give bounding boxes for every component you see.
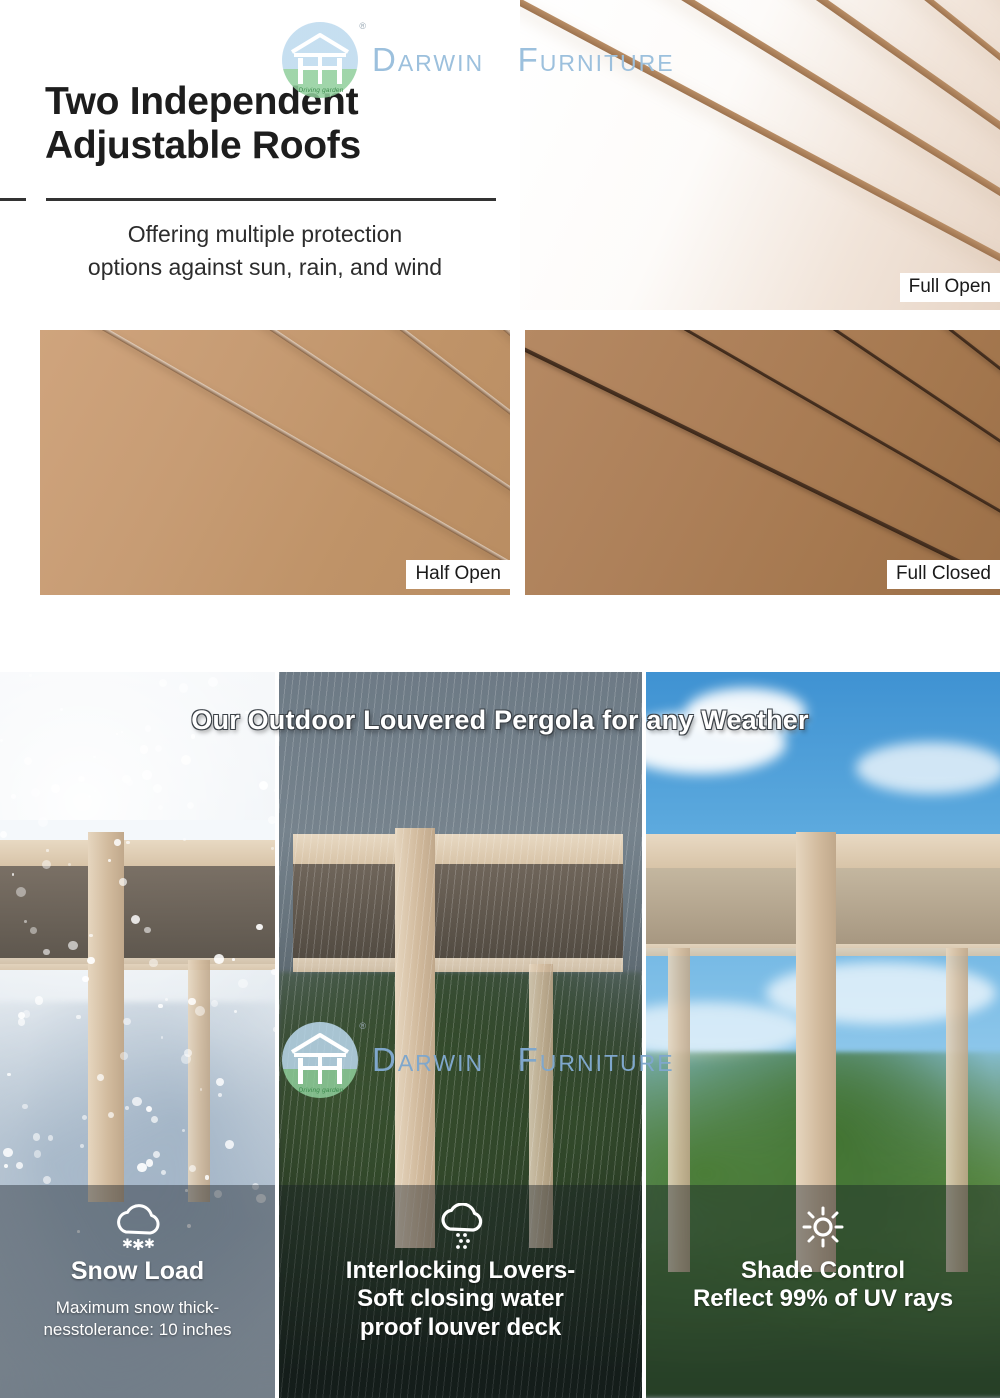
louver-slats-open	[520, 0, 1000, 310]
snowflake	[29, 674, 32, 677]
snowflake	[151, 1116, 158, 1123]
weather-panel-sun: Shade Control Reflect 99% of UV rays	[646, 672, 1000, 1398]
subheadline: Offering multiple protection options aga…	[20, 218, 510, 285]
photo-full-open: Full Open	[520, 0, 1000, 310]
sun-title-line-2: Reflect 99% of UV rays	[646, 1285, 1000, 1313]
headline-line-2: Adjustable Roofs	[45, 124, 505, 168]
snowflake	[126, 779, 133, 786]
rain-cloud-icon	[279, 1203, 642, 1251]
weather-section: ✱ ✱ ✱ Snow Load Maximum snow thick- ness…	[0, 672, 1000, 1398]
snowflake	[137, 1163, 146, 1172]
snowflake	[43, 949, 49, 955]
sun-title-line-1: Shade Control	[646, 1257, 1000, 1285]
snowflake	[30, 927, 37, 934]
sun-icon	[646, 1203, 1000, 1251]
snowflake	[181, 755, 191, 765]
snowflake	[12, 873, 14, 875]
snowflake	[88, 795, 91, 798]
snowflake	[76, 1015, 81, 1020]
snowflake	[34, 1150, 41, 1157]
photo-label-half-open: Half Open	[406, 560, 510, 589]
photo-full-closed: Full Closed	[525, 330, 1000, 595]
snowflake	[46, 849, 48, 851]
sun-title: Shade Control Reflect 99% of UV rays	[646, 1257, 1000, 1314]
snowflake	[0, 831, 7, 838]
panel-separator-2	[642, 672, 646, 1398]
svg-text:✱: ✱	[132, 1236, 145, 1250]
snowflake	[146, 1159, 153, 1166]
subheadline-line-1: Offering multiple protection	[20, 218, 510, 251]
snowflake	[259, 781, 268, 790]
louver-slat	[40, 330, 510, 595]
divider-line	[46, 198, 496, 201]
weather-panel-snow: ✱ ✱ ✱ Snow Load Maximum snow thick- ness…	[0, 672, 275, 1398]
snowflake	[161, 1170, 166, 1175]
snowflake	[18, 1012, 25, 1019]
snowflake	[149, 959, 158, 968]
snowflake	[165, 998, 168, 1001]
rain-title-line-2: Soft closing water	[279, 1285, 642, 1313]
snowflake	[120, 1052, 128, 1060]
registered-mark: ®	[359, 21, 366, 31]
snowflake	[256, 924, 262, 930]
louver-slat	[40, 330, 510, 469]
snowflake	[268, 816, 275, 824]
snowflake	[216, 1078, 224, 1086]
snowflake	[97, 1074, 104, 1081]
snowflake	[119, 878, 127, 886]
rain-title-line-1: Interlocking Lovers-	[279, 1257, 642, 1285]
photo-half-open: Half Open	[40, 330, 510, 595]
snowflake	[146, 1106, 152, 1112]
headline-line-1: Two Independent	[45, 80, 505, 124]
louver-slats-half	[40, 330, 510, 595]
snow-subtitle-line-2: nesstolerance: 10 inches	[18, 1319, 257, 1341]
louver-slat	[40, 330, 510, 592]
snowflake	[158, 805, 163, 810]
louver-slat	[525, 330, 1000, 595]
snowflake	[22, 1104, 28, 1110]
snow-title: Snow Load	[0, 1257, 275, 1287]
headline-block: Two Independent Adjustable Roofs	[45, 80, 505, 167]
snowflake	[131, 915, 140, 924]
snowflake	[4, 1164, 8, 1168]
panel-separator-1	[275, 672, 279, 1398]
snowflake	[158, 1004, 162, 1008]
snow-subtitle-line-1: Maximum snow thick-	[18, 1297, 257, 1319]
snowflake	[271, 847, 273, 849]
snow-subtitle: Maximum snow thick- nesstolerance: 10 in…	[0, 1297, 275, 1341]
snowflake	[125, 1106, 129, 1110]
roofs-section: Full Open Half Open Full Closed Two Inde…	[0, 0, 1000, 640]
product-detail-page: Full Open Half Open Full Closed Two Inde…	[0, 0, 1000, 1398]
svg-text:✱: ✱	[144, 1237, 155, 1250]
divider	[0, 198, 520, 202]
snow-cloud-icon: ✱ ✱ ✱	[0, 1203, 275, 1251]
weather-panel-rain: Interlocking Lovers- Soft closing water …	[279, 672, 642, 1398]
snowflake	[0, 739, 2, 741]
photo-label-full-open: Full Open	[900, 273, 1000, 302]
caption-snow: ✱ ✱ ✱ Snow Load Maximum snow thick- ness…	[0, 1185, 275, 1398]
snowflake	[208, 677, 218, 687]
snowflake	[205, 1175, 210, 1180]
pergola-post-front	[88, 832, 124, 1202]
cloud	[856, 742, 1000, 794]
snowflake	[123, 1018, 131, 1026]
rain-title: Interlocking Lovers- Soft closing water …	[279, 1257, 642, 1342]
snowflake	[211, 1000, 218, 1007]
snowflake	[238, 979, 247, 988]
snowflake	[43, 1176, 51, 1184]
louver-slat	[520, 0, 1000, 137]
subheadline-line-2: options against sun, rain, and wind	[20, 251, 510, 284]
snowflake	[3, 1148, 13, 1158]
rain-title-line-3: proof louver deck	[279, 1314, 642, 1342]
caption-rain: Interlocking Lovers- Soft closing water …	[279, 1185, 642, 1398]
louver-slat	[40, 330, 510, 407]
snowflake	[24, 757, 32, 765]
snowflake	[142, 770, 152, 780]
snowflake	[89, 934, 93, 938]
snowflake	[82, 1115, 87, 1120]
snowflake	[225, 1140, 234, 1149]
snowflake	[182, 1129, 185, 1132]
snowflake	[234, 1010, 237, 1013]
snowflake	[51, 784, 60, 793]
snowflake	[188, 998, 195, 1005]
snowflake	[38, 817, 48, 827]
louver-slat	[520, 0, 1000, 189]
louver-slats-closed	[525, 330, 1000, 595]
snowflake	[16, 1162, 23, 1169]
snowflake	[108, 859, 111, 862]
snowflake	[24, 920, 27, 923]
snowflake	[132, 1097, 142, 1107]
snowflake	[232, 958, 235, 961]
snowflake	[114, 839, 121, 846]
snowflake	[35, 996, 43, 1004]
snowflake	[214, 954, 224, 964]
photo-label-full-closed: Full Closed	[887, 560, 1000, 589]
snowflake	[187, 802, 194, 809]
brand-word-1: Darwin	[372, 41, 484, 78]
caption-sun: Shade Control Reflect 99% of UV rays	[646, 1185, 1000, 1398]
louver-slat	[525, 330, 1000, 547]
weather-heading: Our Outdoor Louvered Pergola for any Wea…	[0, 705, 1000, 736]
snowflake	[179, 683, 188, 692]
snowflake	[33, 1133, 40, 1140]
snowflake	[87, 957, 94, 964]
louver-slat	[520, 0, 1000, 32]
divider-dash	[0, 198, 26, 201]
